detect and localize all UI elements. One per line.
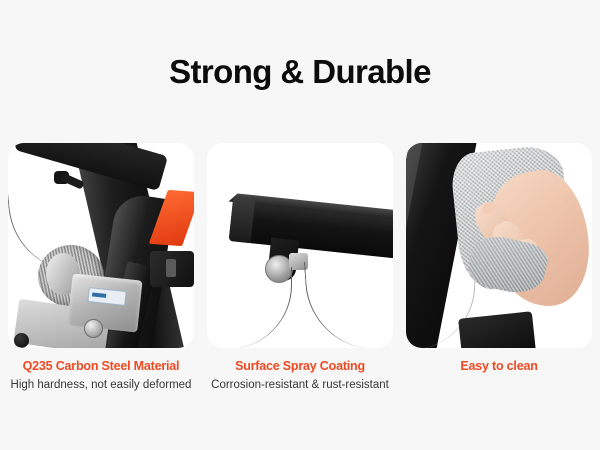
feature-caption: Q235 Carbon Steel Material xyxy=(8,358,194,374)
feature-caption: Easy to clean xyxy=(406,358,592,374)
feature-image-cleaning xyxy=(406,143,592,348)
frame-bolt xyxy=(14,333,29,348)
feature-image-steel-frame xyxy=(8,143,194,348)
post-base-bracket xyxy=(458,311,536,348)
frame-bracket-slot xyxy=(166,259,176,277)
feature-image-beam-pulley xyxy=(207,143,393,348)
feature-subcaption: High hardness, not easily deformed xyxy=(8,378,194,393)
feature-card-clean: Easy to clean xyxy=(406,143,592,393)
feature-cards-row: Q235 Carbon Steel Material High hardness… xyxy=(8,143,592,393)
cable-left xyxy=(225,267,292,348)
cable-right xyxy=(304,256,391,348)
page-title: Strong & Durable xyxy=(0,52,600,92)
feature-caption: Surface Spray Coating xyxy=(207,358,393,374)
feature-card-coating: Surface Spray Coating Corrosion-resistan… xyxy=(207,143,393,393)
winch-bolt xyxy=(84,319,103,338)
beam-end-face xyxy=(229,197,255,243)
feature-subcaption: Corrosion-resistant & rust-resistant xyxy=(207,378,393,393)
product-feature-banner: Strong & Durable xyxy=(0,0,600,450)
feature-card-steel: Q235 Carbon Steel Material High hardness… xyxy=(8,143,194,393)
